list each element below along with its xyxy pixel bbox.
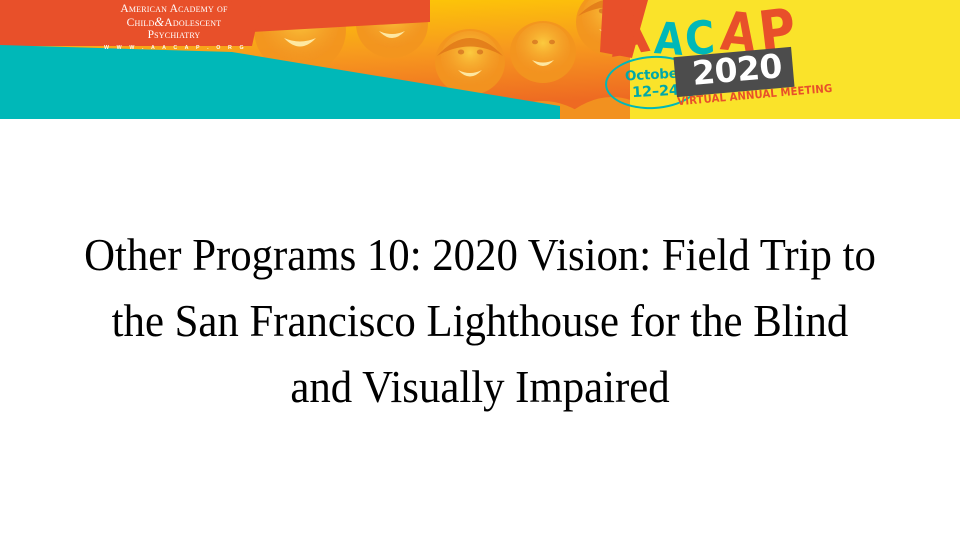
page-title: Other Programs 10: 2020 Vision: Field Tr…: [76, 222, 883, 420]
event-logo: A A C A P October 12–24 2020 VIRTUAL ANN…: [600, 0, 810, 119]
slide-canvas: American Academy of Child&Adolescent Psy…: [0, 0, 960, 540]
header-banner: American Academy of Child&Adolescent Psy…: [0, 0, 960, 119]
banner-graphic: [0, 0, 960, 119]
title-block: Other Programs 10: 2020 Vision: Field Tr…: [46, 222, 914, 420]
